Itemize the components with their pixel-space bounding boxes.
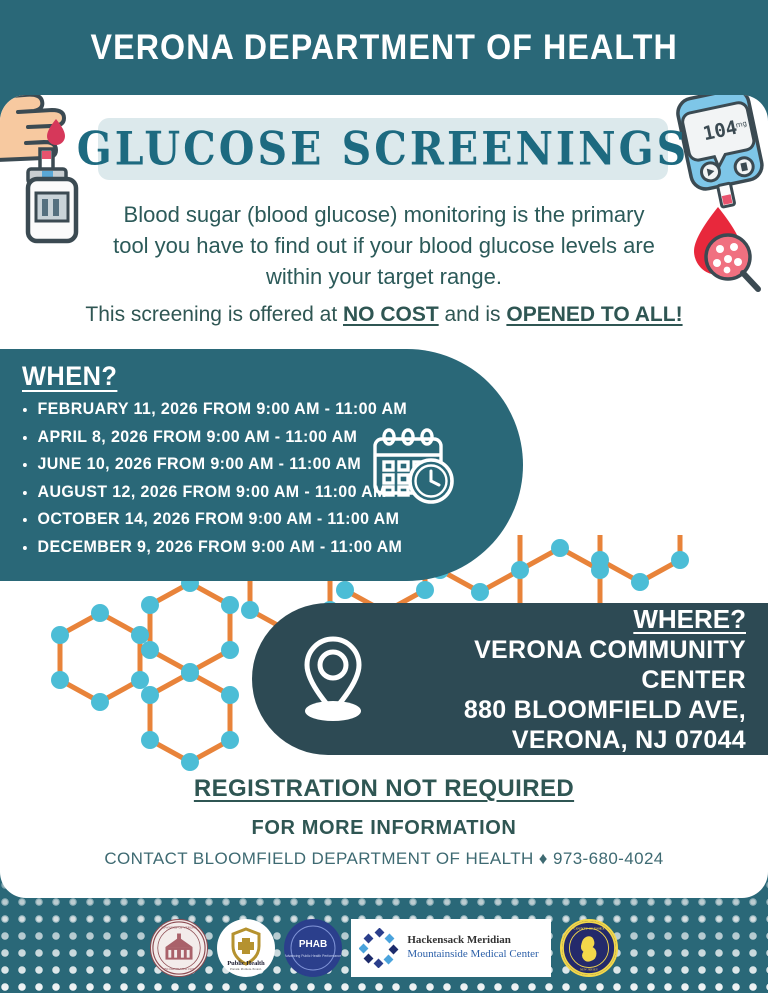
partner-logos: TOWNSHIP OF VERONA INCORPORATED 1907 Pub… [0,913,768,983]
calendar-clock-icon [369,427,461,507]
hmh-line-1: Hackensack Meridian [407,934,538,948]
list-item: OCTOBER 14, 2026 FROM 9:00 AM - 11:00 AM [22,506,508,534]
map-pin-icon [294,633,372,725]
hmh-text-block: Hackensack Meridian Mountainside Medical… [407,934,538,962]
hmh-line-2: Mountainside Medical Center [407,948,538,962]
public-health-tagline: Prevent. Promote. Protect. [231,967,263,971]
township-of-verona-seal: TOWNSHIP OF VERONA INCORPORATED 1907 [150,919,208,977]
offered-prefix: This screening is offered at [85,303,343,326]
hackensack-meridian-logo: Hackensack Meridian Mountainside Medical… [351,919,550,977]
banner-title: GLUCOSE SCREENINGS [77,122,689,176]
more-information-label: FOR MORE INFORMATION [0,817,768,840]
where-venue: VERONA COMMUNITY CENTER [372,635,746,695]
when-panel: WHEN? FEBRUARY 11, 2026 FROM 9:00 AM - 1… [0,349,523,581]
intro-paragraph: Blood sugar (blood glucose) monitoring i… [108,199,660,292]
contact-line: CONTACT BLOOMFIELD DEPARTMENT OF HEALTH … [0,849,768,869]
registration-notice: REGISTRATION NOT REQUIRED [0,775,768,803]
verona-seal-bottom-text: INCORPORATED 1907 [164,967,195,971]
phab-seal: PHAB Advancing Public Health Performance [284,919,342,977]
opened-to-all-emphasis: OPENED TO ALL! [506,303,682,326]
when-heading: WHEN? [22,361,493,392]
where-heading: WHERE? [372,604,746,635]
county-of-essex-seal: COUNTY OF ESSEX NEW JERSEY [560,919,618,977]
poster-background: VERONA DEPARTMENT OF HEALTH [0,0,768,993]
offered-line: This screening is offered at NO COST and… [18,303,750,327]
phab-label: PHAB [299,939,327,950]
where-street: 880 BLOOMFIELD AVE, [372,695,746,725]
header-band: VERONA DEPARTMENT OF HEALTH [0,0,768,95]
content-card: 104 mg GLUCOSE SCREENINGS [0,95,768,898]
hmh-diamond-icon [359,928,399,968]
glucose-screenings-banner: GLUCOSE SCREENINGS [98,118,668,180]
list-item: FEBRUARY 11, 2026 FROM 9:00 AM - 11:00 A… [22,396,508,424]
essex-seal-bottom-text: NEW JERSEY [580,967,599,971]
no-cost-emphasis: NO COST [343,303,439,326]
essex-seal-top-text: COUNTY OF ESSEX [573,926,605,930]
list-item: DECEMBER 9, 2026 FROM 9:00 AM - 11:00 AM [22,534,508,562]
where-text-block: WHERE? VERONA COMMUNITY CENTER 880 BLOOM… [372,604,768,755]
phab-tagline: Advancing Public Health Performance [285,954,342,958]
public-health-accreditation-seal: Public Health Prevent. Promote. Protect. [217,919,275,977]
where-city-state-zip: VERONA, NJ 07044 [372,725,746,755]
page-title: VERONA DEPARTMENT OF HEALTH [90,28,677,68]
where-panel: WHERE? VERONA COMMUNITY CENTER 880 BLOOM… [252,603,768,755]
public-health-label: Public Health [228,960,266,967]
verona-seal-top-text: TOWNSHIP OF VERONA [161,926,198,930]
offered-middle: and is [439,303,507,326]
